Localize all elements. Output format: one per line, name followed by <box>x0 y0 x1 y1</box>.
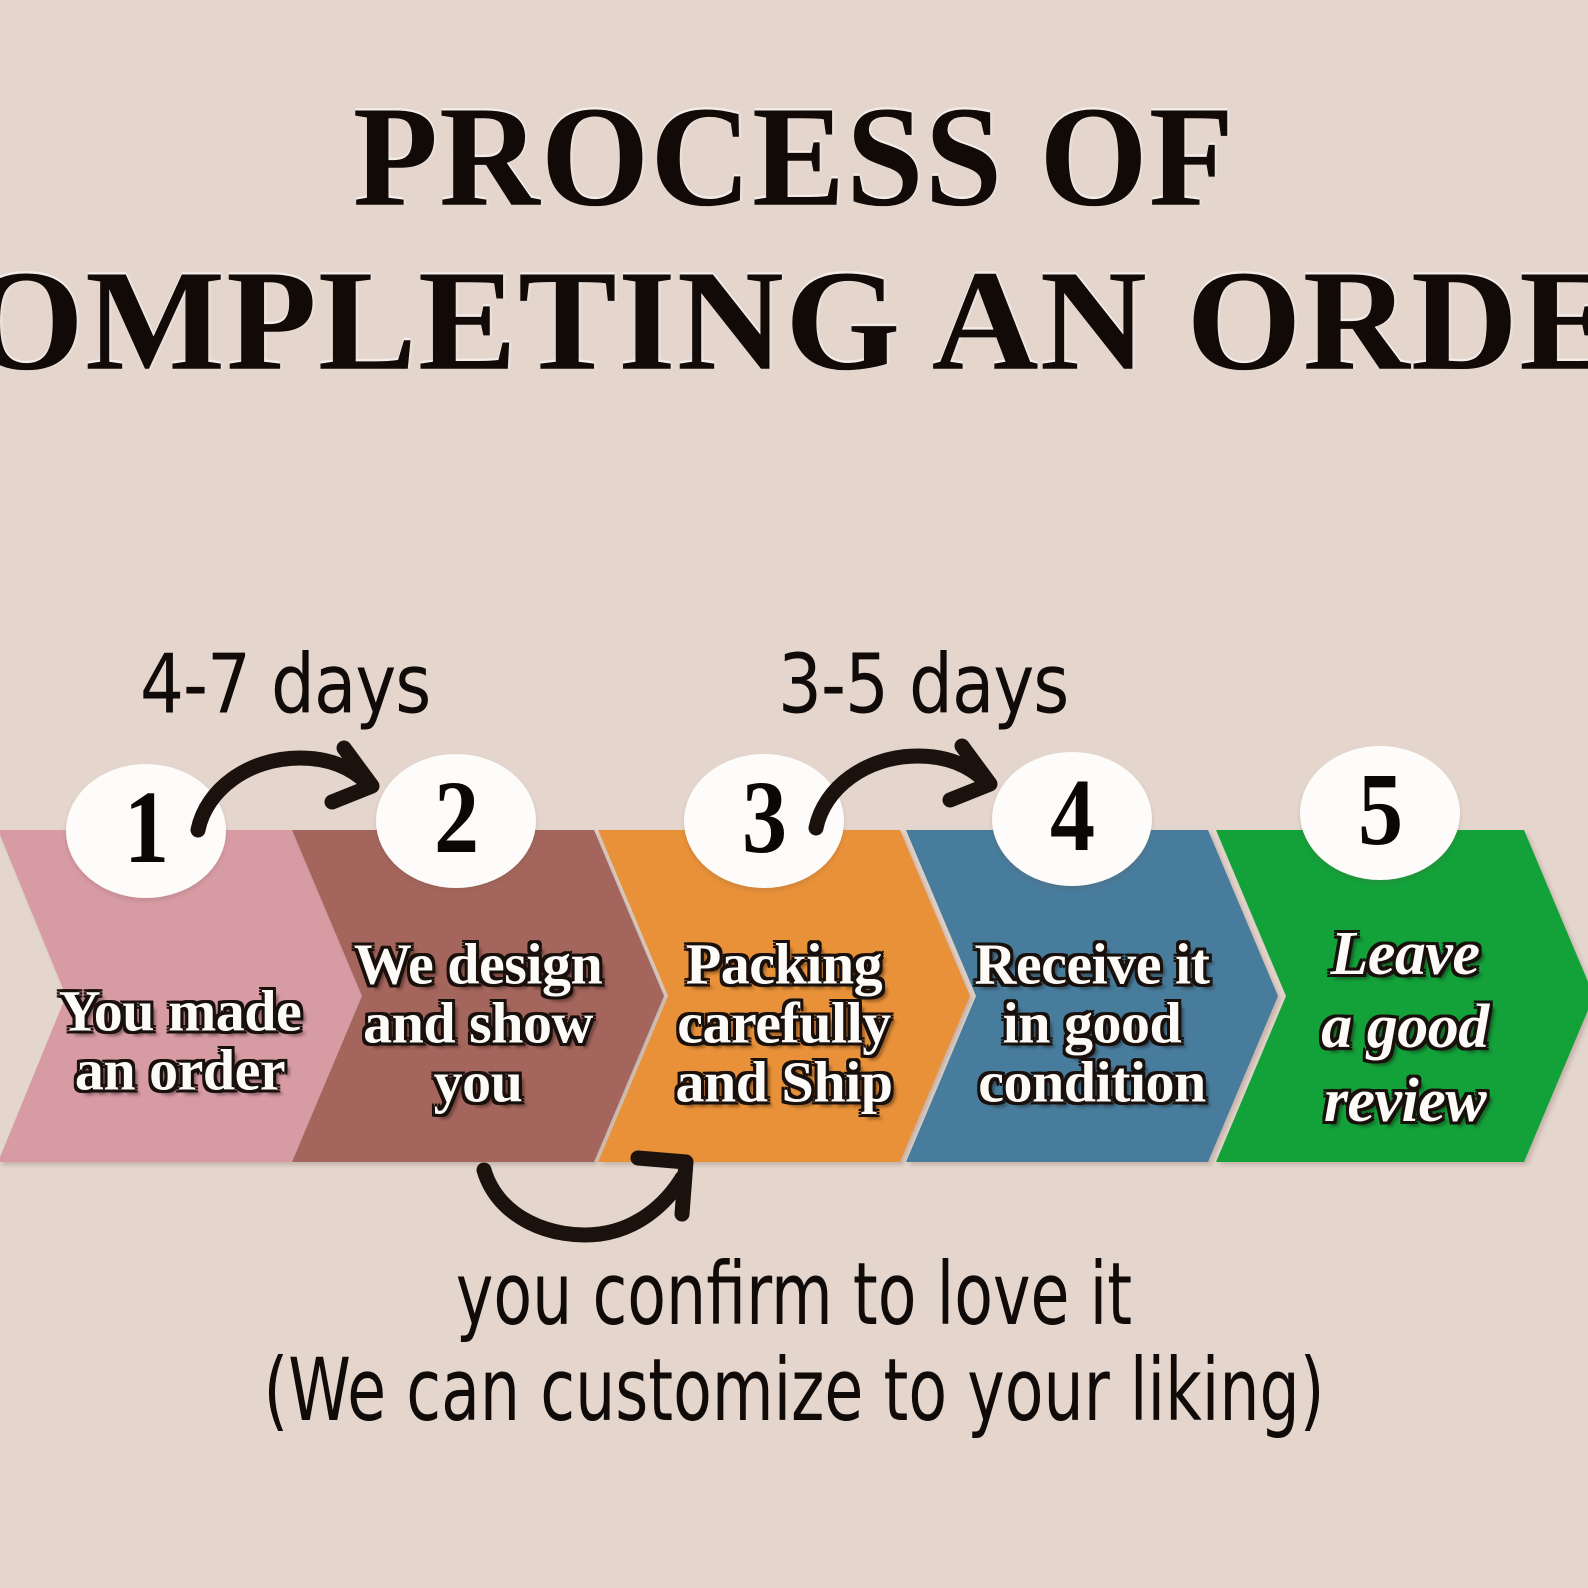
chevron-polygon-5 <box>1216 830 1588 1162</box>
step-number-3: 3 <box>741 766 786 870</box>
step-number-1: 1 <box>123 776 168 880</box>
process-step-5[interactable]: Leave a good review <box>1216 830 1588 1162</box>
footnote-line-1: you confirm to love it <box>95 1244 1492 1345</box>
step-number-2: 2 <box>433 766 478 870</box>
step-number-badge-4[interactable]: 4 <box>992 752 1152 886</box>
step-number-badge-5[interactable]: 5 <box>1300 746 1460 880</box>
step-number-badge-1[interactable]: 1 <box>66 764 226 898</box>
footnote-line-2: (We can customize to your liking) <box>95 1340 1492 1441</box>
step-number-4: 4 <box>1049 764 1094 868</box>
step-number-badge-2[interactable]: 2 <box>376 754 536 888</box>
step-number-5: 5 <box>1357 758 1402 862</box>
chevron-shape-5 <box>1216 830 1588 1162</box>
step-number-badge-3[interactable]: 3 <box>684 754 844 888</box>
infographic-canvas: PROCESS OF COMPLETING AN ORDER 4-7 days … <box>0 0 1588 1588</box>
